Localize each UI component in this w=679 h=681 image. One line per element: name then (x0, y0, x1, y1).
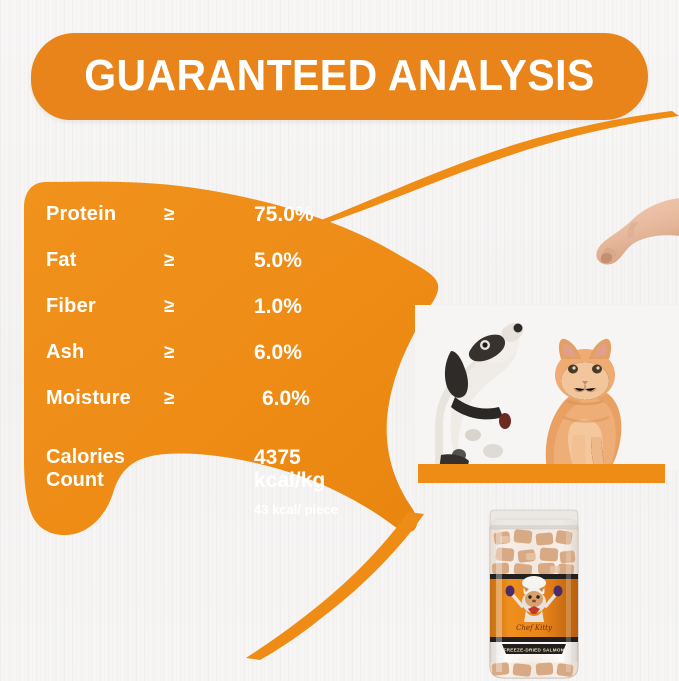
nutrient-label: Fiber (46, 295, 96, 318)
table-row: Fat ≥ 5.0% (46, 249, 346, 295)
nutrient-label: Moisture (46, 387, 131, 410)
variant-ribbon: FREEZE-DRIED SALMON (502, 644, 566, 654)
nutrient-operator: ≥ (164, 296, 174, 318)
nutrient-operator: ≥ (164, 342, 174, 364)
nutrient-operator: ≥ (164, 204, 174, 226)
nutrient-label: Fat (46, 249, 77, 272)
page-title: GUARANTEED ANALYSIS (31, 51, 648, 101)
brand-name-text: Chef Kitty (516, 624, 553, 632)
guaranteed-analysis-banner: GUARANTEED ANALYSIS (31, 33, 648, 120)
page-title-text: GUARANTEED ANALYSIS (84, 51, 595, 101)
nutrient-value: 1.0% (254, 295, 302, 319)
table-row: Moisture ≥ 6.0% (46, 387, 346, 433)
dog-and-cat-photo (415, 305, 679, 470)
guaranteed-analysis-table: Protein ≥ 75.0% Fat ≥ 5.0% Fiber ≥ 1.0% … (46, 203, 346, 433)
nutrient-operator: ≥ (164, 250, 174, 272)
nutrient-value: 75.0% (254, 203, 314, 227)
nutrient-label: Ash (46, 341, 84, 364)
table-row: Protein ≥ 75.0% (46, 203, 346, 249)
svg-text:FREEZE-DRIED SALMON: FREEZE-DRIED SALMON (504, 648, 565, 653)
nutrient-value: 5.0% (254, 249, 302, 273)
nutrient-value: 6.0% (262, 387, 310, 411)
calories-value: 4375 kcal/kg (254, 446, 325, 492)
product-jar-image: Chef Kitty FREEZE-DRIED SALMON CAT TREAT… (478, 506, 590, 681)
hand-holding-treat-photo (570, 192, 679, 270)
calories-label: Calories Count (46, 446, 125, 492)
treat-pieces-top (490, 529, 578, 576)
table-row: Ash ≥ 6.0% (46, 341, 346, 387)
table-row: Fiber ≥ 1.0% (46, 295, 346, 341)
calories-per-piece: 43 kcal/ piece (254, 502, 338, 517)
treat-pieces-bottom (490, 662, 578, 680)
nutrient-label: Protein (46, 203, 116, 226)
nutrient-value: 6.0% (254, 341, 302, 365)
nutrient-operator: ≥ (164, 388, 174, 410)
pets-accent-bar (418, 464, 665, 483)
